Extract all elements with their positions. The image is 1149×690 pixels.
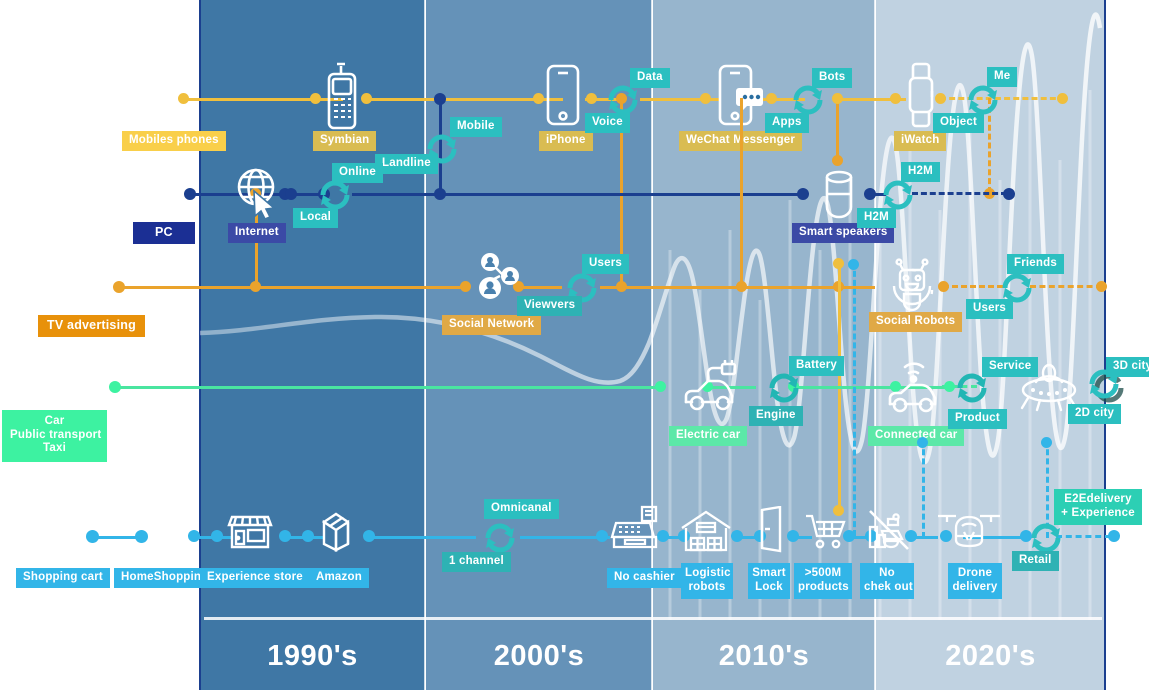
pill-line: Lock bbox=[752, 581, 786, 595]
pill-amazon[interactable]: Amazon bbox=[309, 568, 369, 588]
node-dot bbox=[434, 188, 446, 200]
pill-users-media[interactable]: Users bbox=[582, 254, 629, 274]
pill-tv-advertising[interactable]: TV advertising bbox=[38, 315, 145, 337]
books-icon bbox=[316, 508, 360, 552]
media-line-dashed1 bbox=[943, 285, 1003, 288]
node-dot bbox=[833, 258, 844, 269]
decade-label-1990s: 1990's bbox=[200, 630, 425, 682]
pill-no-chek-out[interactable]: No chek out bbox=[860, 563, 914, 599]
pill-line: No bbox=[864, 567, 910, 581]
pill-social-network[interactable]: Social Network bbox=[442, 315, 541, 335]
pill-mobile[interactable]: Mobile bbox=[450, 117, 502, 137]
node-dot bbox=[109, 381, 121, 393]
node-dot bbox=[250, 281, 261, 292]
infographic-canvas: Symbian iPhone WeChat Messenger iWatch M… bbox=[0, 0, 1149, 690]
pill-drone-delivery[interactable]: Drone delivery bbox=[948, 563, 1002, 599]
pill-h2m-bottom[interactable]: H2M bbox=[857, 208, 896, 228]
node-dot bbox=[135, 530, 148, 543]
pill-line: robots bbox=[685, 581, 729, 595]
pill-engine[interactable]: Engine bbox=[749, 406, 803, 426]
pill-omnicanal[interactable]: Omnicanal bbox=[484, 499, 559, 519]
pill-landline[interactable]: Landline bbox=[375, 154, 438, 174]
connected-car-icon bbox=[884, 358, 944, 416]
retail-line-seg0 bbox=[95, 536, 140, 539]
pill-bots[interactable]: Bots bbox=[812, 68, 852, 88]
pill-local[interactable]: Local bbox=[293, 208, 338, 228]
pill-friends[interactable]: Friends bbox=[1007, 254, 1064, 274]
node-dot bbox=[700, 93, 711, 104]
pill-line: Car bbox=[10, 415, 99, 429]
pill-2d-city[interactable]: 2D city bbox=[1068, 404, 1121, 424]
node-dot bbox=[864, 188, 876, 200]
pill-mobiles-phones[interactable]: Mobiles phones bbox=[122, 131, 226, 151]
pill-viewvers[interactable]: Viewvers bbox=[517, 296, 582, 316]
pill-online[interactable]: Online bbox=[332, 163, 383, 183]
node-dot bbox=[586, 93, 597, 104]
pill-apps[interactable]: Apps bbox=[765, 113, 809, 133]
node-dot bbox=[1108, 530, 1120, 542]
pill-line: Taxi bbox=[10, 442, 99, 456]
shopping-cart-icon bbox=[804, 512, 848, 552]
footer-divider bbox=[204, 617, 1102, 620]
feature-phone-icon bbox=[318, 60, 366, 132]
node-dot bbox=[797, 188, 809, 200]
apps-vertical bbox=[836, 98, 839, 163]
pill-symbian[interactable]: Symbian bbox=[313, 131, 376, 151]
mobility-line-seg1 bbox=[115, 386, 665, 389]
pill-h2m-top[interactable]: H2M bbox=[901, 162, 940, 182]
pill-line: chek out bbox=[864, 581, 910, 595]
node-dot bbox=[178, 93, 189, 104]
wechat-vertical bbox=[740, 98, 743, 288]
smart-speaker-icon bbox=[818, 163, 860, 225]
media-line-dashed2 bbox=[1030, 285, 1102, 288]
social-robot-icon bbox=[884, 256, 940, 316]
node-dot bbox=[1041, 437, 1052, 448]
connected-car-retail-link bbox=[922, 440, 925, 538]
media-line-seg1 bbox=[120, 286, 465, 289]
pill-3d-city[interactable]: 3D city bbox=[1106, 357, 1149, 377]
pill-line: E2Edelivery bbox=[1059, 493, 1137, 507]
pc-line-dashed bbox=[912, 192, 1007, 195]
node-dot bbox=[184, 188, 196, 200]
pill-retail[interactable]: Retail bbox=[1012, 551, 1059, 571]
pill-logistic-robots[interactable]: Logistic robots bbox=[681, 563, 733, 599]
social-robot-retail-link bbox=[853, 262, 856, 536]
pill-1-channel[interactable]: 1 channel bbox=[442, 552, 511, 572]
node-dot bbox=[434, 93, 446, 105]
pill-line: products bbox=[798, 581, 848, 595]
node-dot bbox=[1096, 281, 1107, 292]
smartphone-icon bbox=[542, 62, 584, 130]
node-dot bbox=[917, 437, 928, 448]
node-dot bbox=[787, 530, 799, 542]
pill-line: + Experience bbox=[1059, 507, 1137, 521]
pill-line: >500M bbox=[798, 567, 848, 581]
pill-smart-lock[interactable]: Smart Lock bbox=[748, 563, 790, 599]
node-dot bbox=[211, 530, 223, 542]
node-dot bbox=[279, 530, 291, 542]
node-dot bbox=[766, 93, 777, 104]
pill-data[interactable]: Data bbox=[630, 68, 670, 88]
pill-iwatch[interactable]: iWatch bbox=[894, 131, 946, 151]
node-dot bbox=[86, 530, 99, 543]
pill-product[interactable]: Product bbox=[948, 409, 1007, 429]
decade-label-2000s: 2000's bbox=[426, 630, 652, 682]
retail-line-seg3 bbox=[366, 536, 476, 539]
pill-500m-products[interactable]: >500M products bbox=[794, 563, 852, 599]
pill-line: Smart bbox=[752, 567, 786, 581]
node-dot bbox=[363, 530, 375, 542]
node-dot bbox=[302, 530, 314, 542]
pill-car-public-transport-taxi[interactable]: Car Public transport Taxi bbox=[2, 410, 107, 462]
pill-users-robots[interactable]: Users bbox=[966, 299, 1013, 319]
node-dot bbox=[655, 381, 666, 392]
door-icon bbox=[754, 506, 788, 554]
node-dot bbox=[832, 93, 843, 104]
pc-line-seg3 bbox=[352, 193, 807, 196]
pill-pc[interactable]: PC bbox=[133, 222, 195, 244]
decade-label-2010s: 2010's bbox=[653, 630, 875, 682]
delivery-drone-icon bbox=[934, 506, 1004, 550]
warehouse-icon bbox=[678, 508, 734, 554]
node-dot bbox=[188, 530, 200, 542]
node-dot bbox=[596, 530, 608, 542]
pill-line: Public transport bbox=[10, 429, 99, 443]
cash-register-icon bbox=[608, 505, 670, 553]
pill-me[interactable]: Me bbox=[987, 67, 1017, 87]
pill-battery[interactable]: Battery bbox=[789, 356, 844, 376]
electric-car-icon bbox=[680, 360, 742, 416]
node-dot bbox=[616, 281, 627, 292]
pill-no-cashier[interactable]: No cashier bbox=[607, 568, 682, 588]
pill-line: delivery bbox=[952, 581, 998, 595]
pill-shopping-cart[interactable]: Shopping cart bbox=[16, 568, 110, 588]
pill-internet[interactable]: Internet bbox=[228, 223, 286, 243]
no-checkout-icon bbox=[864, 505, 912, 553]
node-dot bbox=[1057, 93, 1068, 104]
pill-e2e-delivery-experience[interactable]: E2Edelivery + Experience bbox=[1054, 489, 1142, 525]
pill-object[interactable]: Object bbox=[933, 113, 984, 133]
pill-iphone[interactable]: iPhone bbox=[539, 131, 593, 151]
globe-cursor-icon bbox=[230, 163, 286, 219]
pill-electric-car[interactable]: Electric car bbox=[669, 426, 747, 446]
node-dot bbox=[113, 281, 125, 293]
storefront-icon bbox=[226, 505, 274, 551]
pill-line: Logistic bbox=[685, 567, 729, 581]
pill-line: Drone bbox=[952, 567, 998, 581]
pill-voice[interactable]: Voice bbox=[585, 113, 630, 133]
decade-label-2020s: 2020's bbox=[876, 630, 1105, 682]
node-dot bbox=[848, 259, 859, 270]
node-dot bbox=[1003, 188, 1015, 200]
pill-experience-store[interactable]: Experience store bbox=[200, 568, 310, 588]
pill-social-robots[interactable]: Social Robots bbox=[869, 312, 962, 332]
node-dot bbox=[285, 188, 297, 200]
